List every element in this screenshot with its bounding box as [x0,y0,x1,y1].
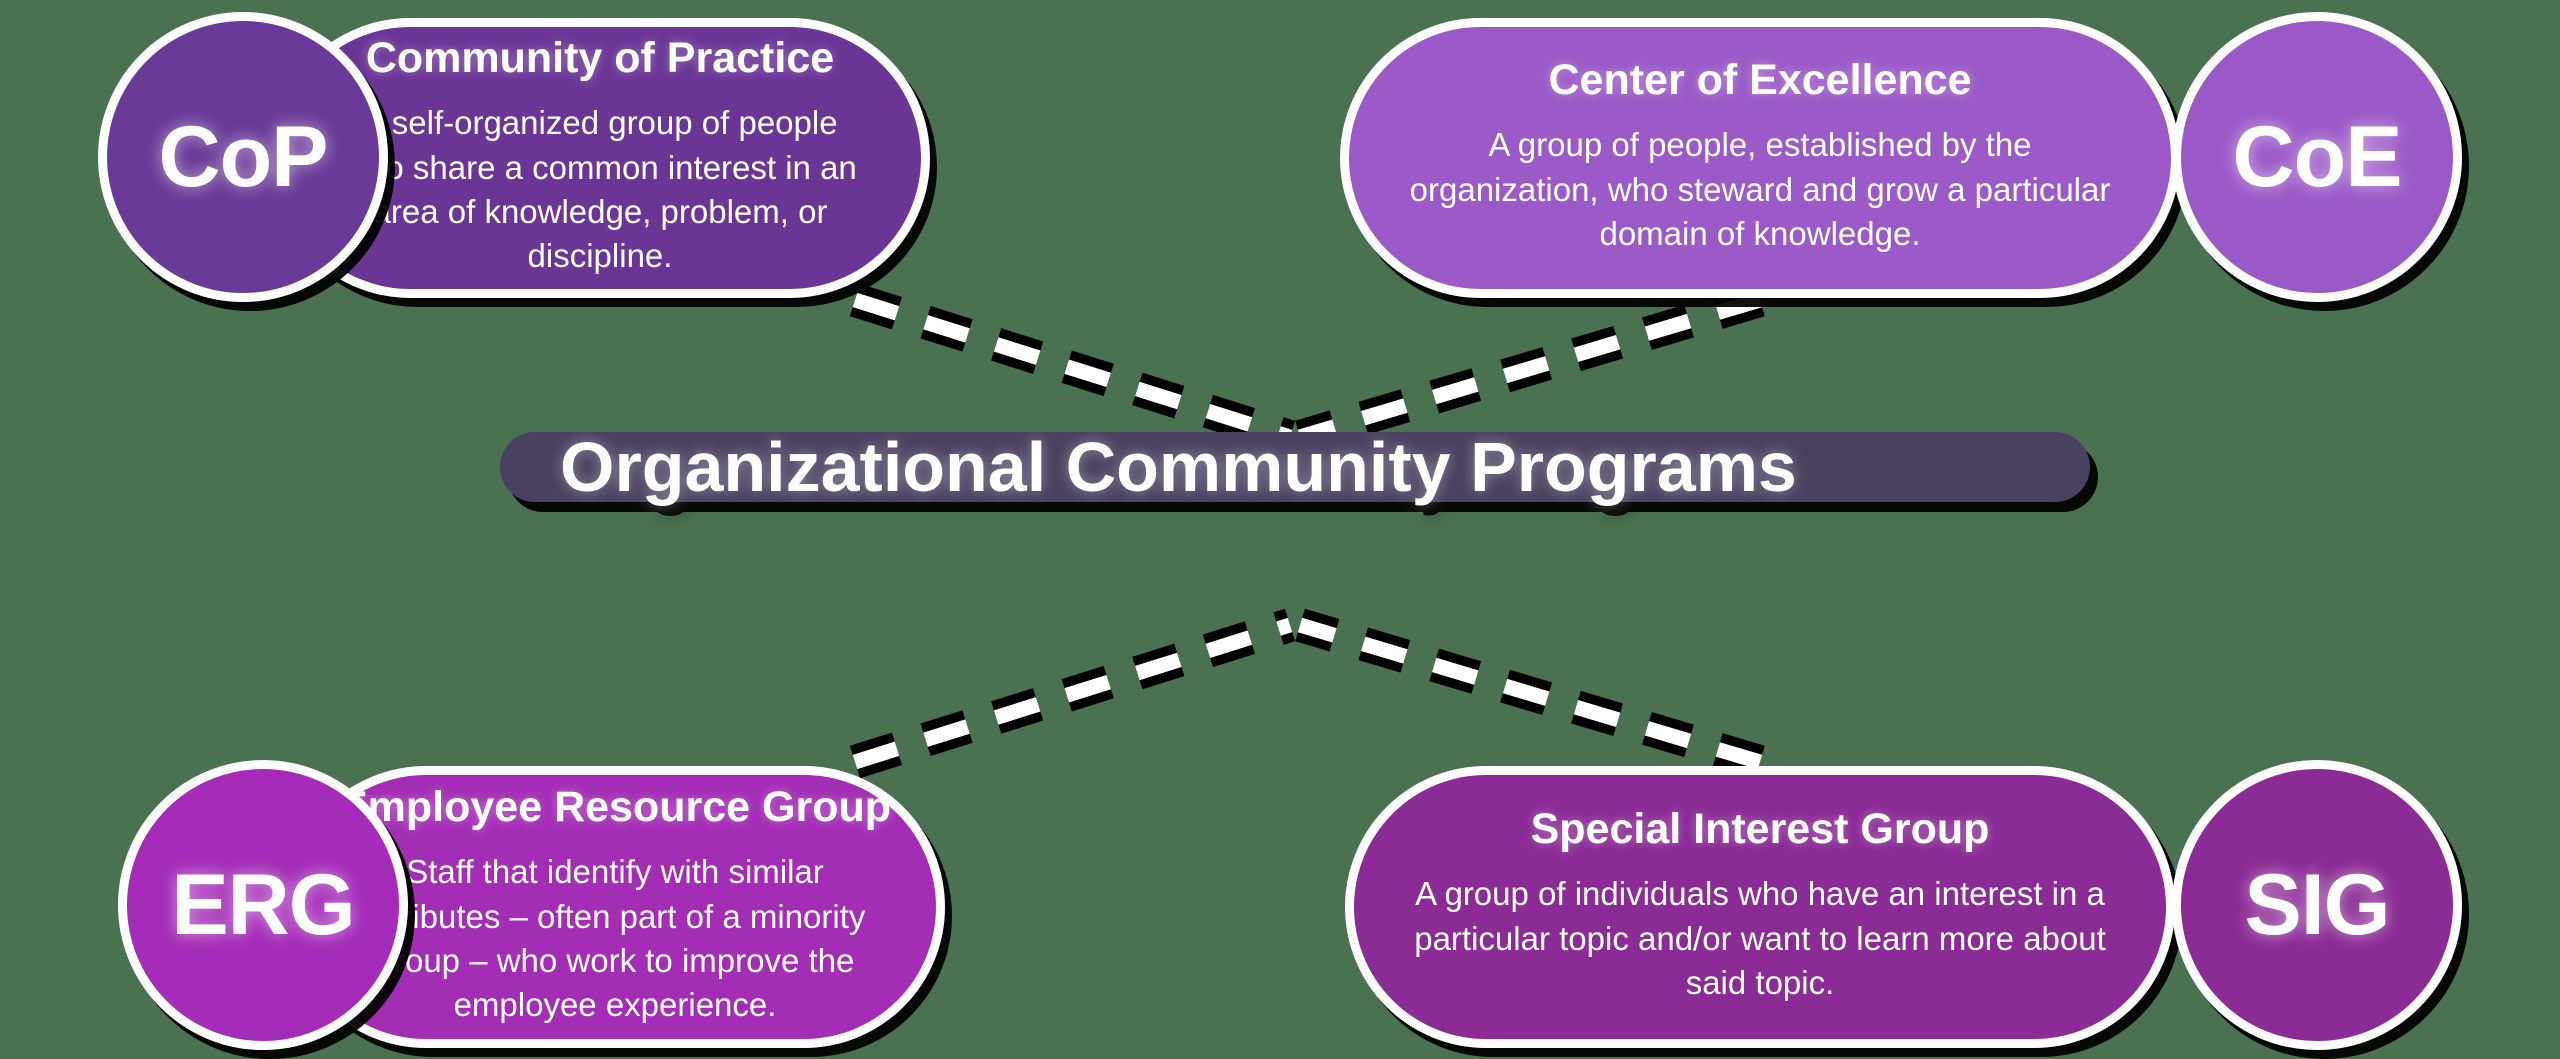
badge-cop-label: CoP [159,114,328,200]
badge-cop-shell: CoP [98,12,388,302]
badge-sig-label: SIG [2244,862,2389,948]
card-sig-title: Special Interest Group [1531,807,1990,853]
card-sig[interactable]: Special Interest Group A group of indivi… [1345,766,2175,1048]
card-coe[interactable]: Center of Excellence A group of people, … [1340,18,2180,298]
center-banner[interactable]: Organizational Community Programs [500,432,2090,627]
connector-coe-to-center [1300,300,1760,437]
connector-cop-to-center [855,300,1290,437]
badge-erg-label: ERG [171,862,354,948]
card-sig-shell: Special Interest Group A group of indivi… [1345,766,2175,1048]
center-banner-shell: Organizational Community Programs [500,432,2090,502]
card-erg-body: Staff that identify with similar attribu… [352,850,878,1027]
badge-cop[interactable]: CoP [98,12,388,302]
center-banner-title: Organizational Community Programs [560,428,1797,506]
badge-erg[interactable]: ERG [118,760,408,1050]
card-coe-shell: Center of Excellence A group of people, … [1340,18,2180,298]
badge-coe-shell: CoE [2172,12,2462,302]
card-coe-title: Center of Excellence [1548,58,1971,104]
connector-erg-to-center [855,625,1290,762]
badge-coe[interactable]: CoE [2172,12,2462,302]
card-cop-body: A self-organized group of people who sha… [337,101,863,278]
connector-sig-to-center [1300,625,1760,762]
diagram-canvas: CoP Community of Practice A self-organiz… [0,0,2560,1059]
card-cop-title: Community of Practice [366,36,834,82]
card-coe-body: A group of people, established by the or… [1407,123,2113,256]
card-sig-body: A group of individuals who have an inter… [1412,872,2108,1005]
badge-sig[interactable]: SIG [2172,760,2462,1050]
card-erg-title: Employee Resource Group [339,785,891,831]
badge-erg-shell: ERG [118,760,408,1050]
badge-sig-shell: SIG [2172,760,2462,1050]
badge-coe-label: CoE [2233,114,2402,200]
